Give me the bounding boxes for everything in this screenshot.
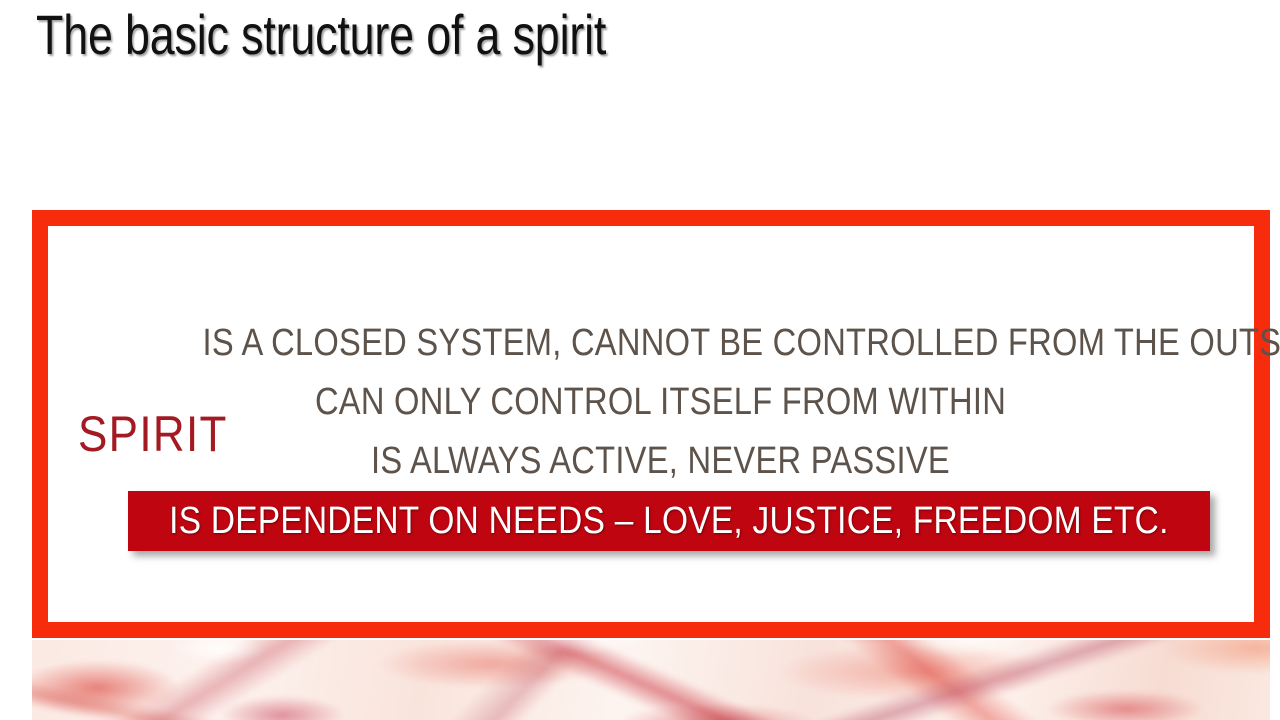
- highlight-banner: IS DEPENDENT ON NEEDS – LOVE, JUSTICE, F…: [128, 491, 1210, 551]
- spirit-panel: SPIRIT IS A CLOSED SYSTEM, CANNOT BE CON…: [32, 210, 1270, 638]
- statement-line: IS ALWAYS ACTIVE, NEVER PASSIVE: [203, 432, 1119, 491]
- spirit-panel-inner: SPIRIT IS A CLOSED SYSTEM, CANNOT BE CON…: [48, 226, 1254, 622]
- statement-line: IS A CLOSED SYSTEM, CANNOT BE CONTROLLED…: [203, 314, 1119, 373]
- page-title: The basic structure of a spirit: [36, 2, 606, 68]
- tissue-highlight-layer: [32, 640, 1270, 720]
- highlight-banner-text: IS DEPENDENT ON NEEDS – LOVE, JUSTICE, F…: [169, 500, 1169, 542]
- tissue-vein-photo: [32, 640, 1270, 720]
- statement-list: IS A CLOSED SYSTEM, CANNOT BE CONTROLLED…: [128, 314, 1193, 491]
- statement-line: CAN ONLY CONTROL ITSELF FROM WITHIN: [203, 373, 1119, 432]
- slide: The basic structure of a spirit SPIRIT I…: [0, 0, 1280, 720]
